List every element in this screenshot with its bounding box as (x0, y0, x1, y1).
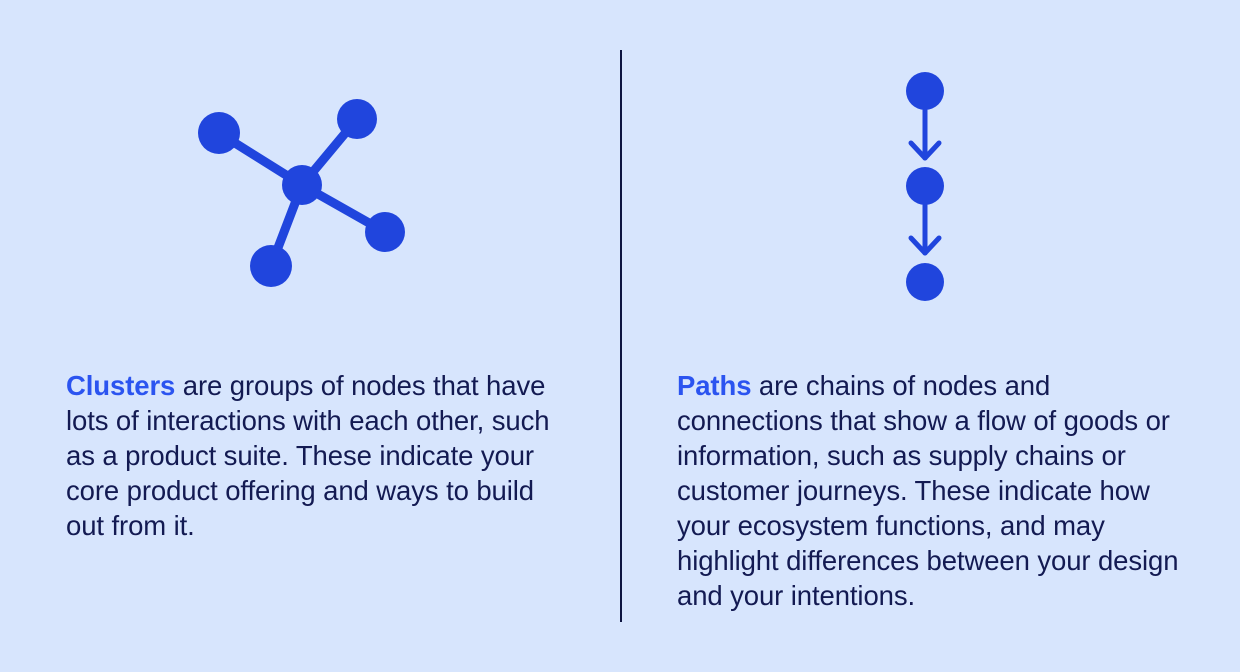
node-step-1 (906, 72, 944, 110)
node-right (365, 212, 405, 252)
paths-description: Paths are chains of nodes and connection… (677, 368, 1202, 613)
cluster-nodes (198, 99, 405, 287)
paths-lede: Paths (677, 370, 751, 401)
node-hub (282, 165, 322, 205)
path-diagram (860, 40, 1020, 320)
illustration-stage: Clusters are groups of nodes that have l… (0, 0, 1240, 672)
node-step-3 (906, 263, 944, 301)
node-bottom-left (250, 245, 292, 287)
clusters-lede: Clusters (66, 370, 175, 401)
node-top-right (337, 99, 377, 139)
clusters-description: Clusters are groups of nodes that have l… (66, 368, 566, 543)
node-step-2 (906, 167, 944, 205)
cluster-diagram (160, 40, 460, 300)
paths-body: are chains of nodes and connections that… (677, 370, 1178, 611)
panel-paths: Paths are chains of nodes and connection… (620, 0, 1240, 672)
node-top-left (198, 112, 240, 154)
panel-clusters: Clusters are groups of nodes that have l… (0, 0, 620, 672)
path-nodes (906, 72, 944, 301)
